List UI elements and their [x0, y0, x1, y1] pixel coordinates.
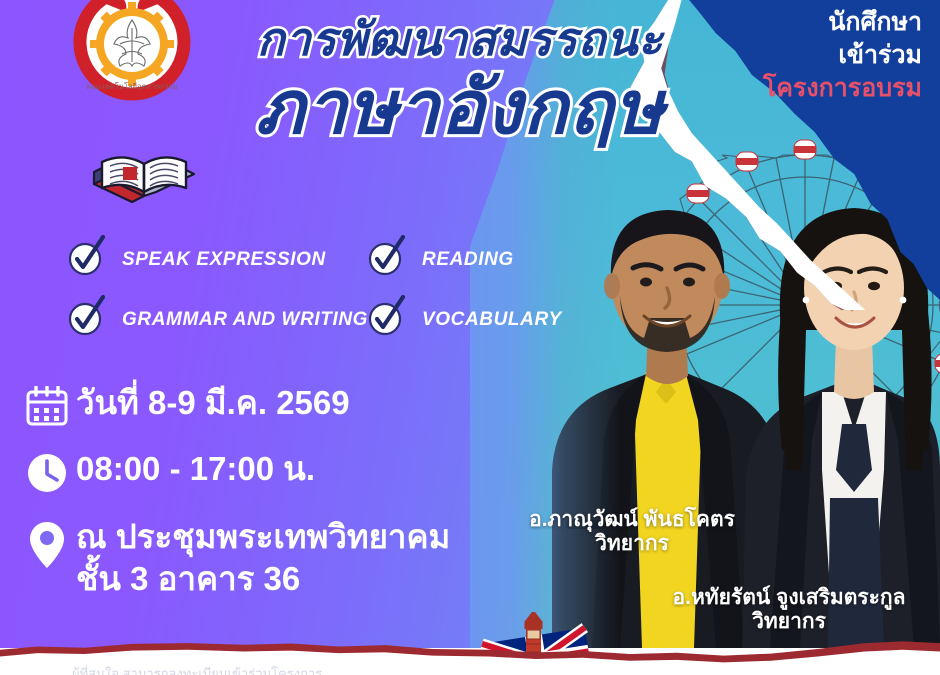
venue-line-1: ณ ประชุมพระเทพวิทยาคม: [76, 518, 450, 555]
callout-line-1: นักศึกษา: [722, 6, 922, 39]
event-details: วันที่ 8-9 มี.ค. 2569 08:00 - 17:00 น. ณ…: [18, 382, 538, 622]
footer-cutoff-text: ผู้ที่สนใจ สามารถลงทะเบียนเข้าร่วมโครงกา…: [72, 663, 492, 675]
speaker-2-caption: อ.หทัยรัตน์ จูงเสริมตระกูล วิทยากร: [648, 586, 930, 635]
checklist-item-reading: READING: [370, 243, 570, 277]
detail-row-venue: ณ ประชุมพระเทพวิทยาคม ชั้น 3 อาคาร 36: [18, 516, 538, 600]
poster-canvas: คณะเทคโนโลยีอุตสาหกรรม การพัฒนาสมร: [0, 0, 940, 675]
check-circle-icon: [370, 243, 404, 277]
calendar-icon: [18, 382, 76, 426]
speaker-1-caption: อ.ภาณุวัฒน์ พันธโคตร วิทยากร: [498, 508, 766, 557]
event-venue: ณ ประชุมพระเทพวิทยาคม ชั้น 3 อาคาร 36: [76, 516, 450, 600]
checklist-label: READING: [422, 249, 514, 271]
checklist-row: GRAMMAR AND WRITING VOCABULARY: [70, 303, 570, 337]
university-logo: คณะเทคโนโลยีอุตสาหกรรม: [62, 0, 202, 112]
title-line-1: การพัฒนาสมรรถนะ: [215, 14, 705, 65]
checklist-label: VOCABULARY: [422, 309, 562, 331]
detail-row-date: วันที่ 8-9 มี.ค. 2569: [18, 382, 538, 426]
check-circle-icon: [370, 303, 404, 337]
checklist-label: GRAMMAR AND WRITING: [122, 309, 368, 331]
detail-row-time: 08:00 - 17:00 น.: [18, 448, 538, 494]
callout-line-2: เข้าร่วม: [722, 39, 922, 72]
callout-line-3: โครงการอบรม: [722, 72, 922, 105]
clock-icon: [18, 448, 76, 494]
open-book-icon: [88, 128, 200, 208]
check-circle-icon: [70, 303, 104, 337]
venue-line-2: ชั้น 3 อาคาร 36: [76, 558, 450, 600]
audience-callout: นักศึกษา เข้าร่วม โครงการอบรม: [722, 6, 922, 105]
check-circle-icon: [70, 243, 104, 277]
title-line-2: ภาษาอังกฤษ: [215, 67, 705, 150]
speaker-1-name: อ.ภาณุวัฒน์ พันธโคตร: [498, 508, 766, 532]
speaker-2-name: อ.หทัยรัตน์ จูงเสริมตระกูล: [648, 586, 930, 610]
event-date: วันที่ 8-9 มี.ค. 2569: [76, 382, 350, 424]
location-pin-icon: [18, 516, 76, 570]
topics-checklist: SPEAK EXPRESSION READING: [70, 243, 570, 363]
checklist-label: SPEAK EXPRESSION: [122, 249, 326, 271]
speaker-2-role: วิทยากร: [648, 610, 930, 634]
speaker-1-role: วิทยากร: [498, 532, 766, 556]
checklist-row: SPEAK EXPRESSION READING: [70, 243, 570, 277]
event-time: 08:00 - 17:00 น.: [76, 448, 315, 490]
checklist-item-speak-expression: SPEAK EXPRESSION: [70, 243, 370, 277]
checklist-item-grammar-and-writing: GRAMMAR AND WRITING: [70, 303, 370, 337]
poster-title: การพัฒนาสมรรถนะ ภาษาอังกฤษ: [215, 14, 705, 149]
logo-caption: คณะเทคโนโลยีอุตสาหกรรม: [86, 82, 177, 91]
speaker-2-figure: [742, 208, 940, 648]
checklist-item-vocabulary: VOCABULARY: [370, 303, 570, 337]
